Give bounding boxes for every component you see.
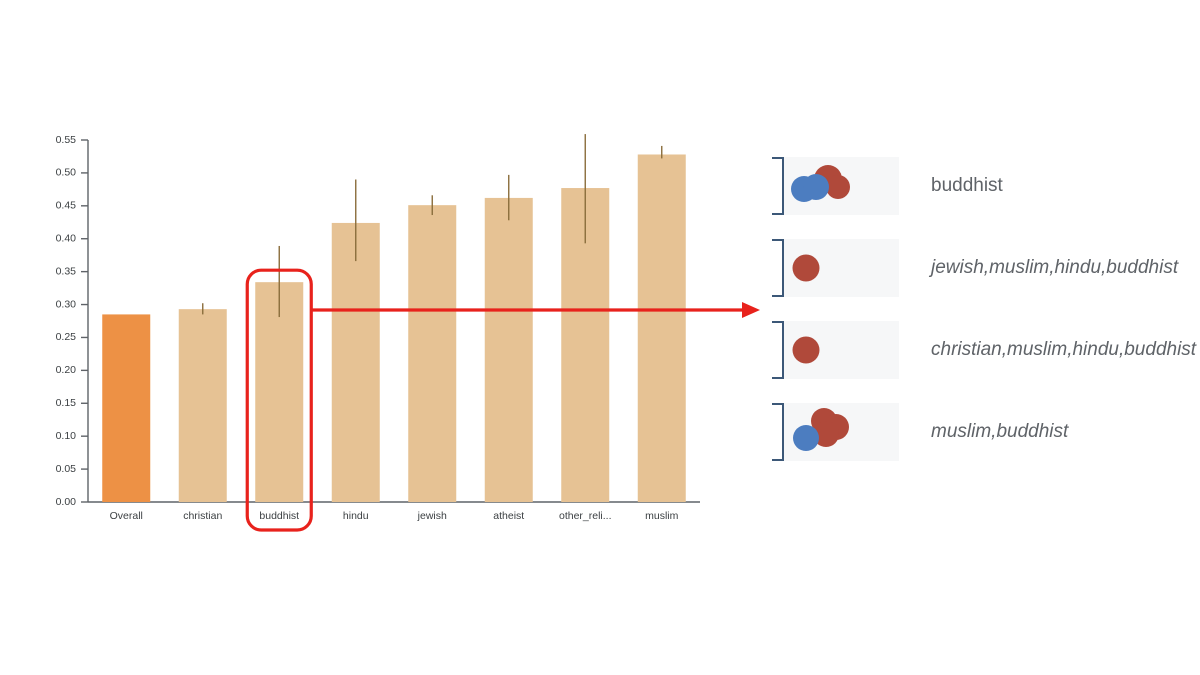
y-tick-label: 0.05 (56, 463, 77, 475)
bar-overall (102, 314, 150, 502)
x-label-christian: christian (183, 510, 222, 522)
red-blue-blob-cluster-icon (784, 403, 899, 461)
example-panel-row: muslim,buddhist (772, 396, 1192, 468)
example-panel-label: jewish,muslim,hindu,buddhist (931, 257, 1178, 279)
right-bracket-icon (772, 157, 784, 215)
x-label-jewish: jewish (417, 510, 447, 522)
example-panel-list: buddhistjewish,muslim,hindu,buddhistchri… (772, 150, 1192, 478)
x-label-atheist: atheist (493, 510, 524, 522)
x-label-hindu: hindu (343, 510, 369, 522)
y-axis-ticks: 0.000.050.100.150.200.250.300.350.400.45… (56, 134, 88, 508)
x-label-buddhist: buddhist (259, 510, 299, 522)
screenshot-root: 0.000.050.100.150.200.250.300.350.400.45… (0, 0, 1200, 675)
bar-muslim (638, 154, 686, 502)
y-tick-label: 0.20 (56, 364, 77, 376)
example-panel-row: jewish,muslim,hindu,buddhist (772, 232, 1192, 304)
bars (102, 154, 686, 502)
callout-arrow-head (742, 302, 760, 318)
y-tick-label: 0.35 (56, 265, 77, 277)
example-panel-label: muslim,buddhist (931, 421, 1068, 443)
y-tick-label: 0.00 (56, 496, 77, 508)
right-bracket-icon (772, 239, 784, 297)
bar-chart: 0.000.050.100.150.200.250.300.350.400.45… (0, 0, 760, 560)
bar-chart-svg: 0.000.050.100.150.200.250.300.350.400.45… (0, 0, 760, 560)
example-panel-label: buddhist (931, 175, 1003, 197)
y-tick-label: 0.30 (56, 298, 77, 310)
red-circle-icon (784, 321, 899, 379)
y-tick-label: 0.40 (56, 233, 77, 245)
blue-red-blob-cluster-icon (784, 157, 899, 215)
x-axis-category-labels: Overallchristianbuddhisthindujewishathei… (110, 510, 679, 522)
example-panel-row: christian,muslim,hindu,buddhist (772, 314, 1192, 386)
bar-jewish (408, 205, 456, 502)
y-tick-label: 0.25 (56, 331, 77, 343)
y-tick-label: 0.55 (56, 134, 77, 146)
bar-christian (179, 309, 227, 502)
red-circle-icon (784, 239, 899, 297)
example-panel-row: buddhist (772, 150, 1192, 222)
bar-atheist (485, 198, 533, 502)
x-label-other-reli-: other_reli... (559, 510, 612, 522)
right-bracket-icon (772, 403, 784, 461)
y-tick-label: 0.10 (56, 430, 77, 442)
y-tick-label: 0.50 (56, 167, 77, 179)
bar-hindu (332, 223, 380, 502)
y-tick-label: 0.45 (56, 200, 77, 212)
right-bracket-icon (772, 321, 784, 379)
y-tick-label: 0.15 (56, 397, 77, 409)
example-panel-label: christian,muslim,hindu,buddhist (931, 339, 1196, 361)
x-label-overall: Overall (110, 510, 143, 522)
x-label-muslim: muslim (645, 510, 679, 522)
